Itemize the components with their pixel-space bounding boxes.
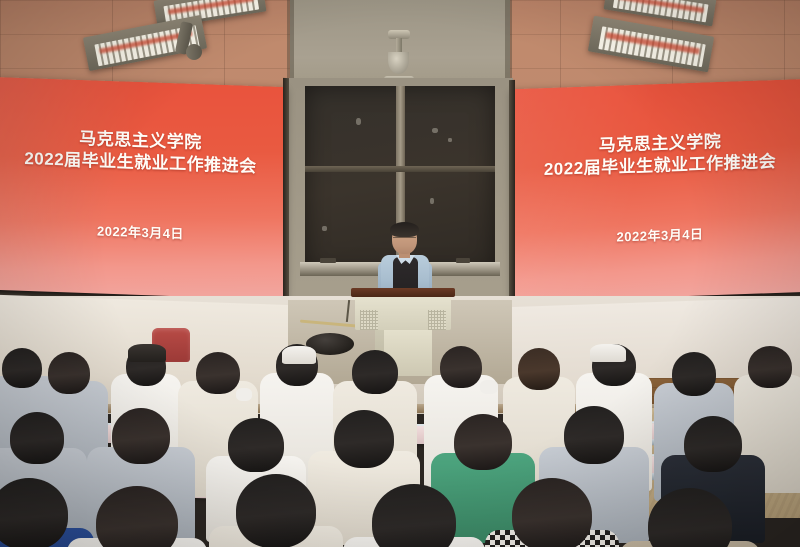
audience-person-head <box>684 416 742 472</box>
eraser[interactable] <box>456 258 470 263</box>
chalk-mark <box>432 128 438 133</box>
screen-frame-left <box>283 78 289 306</box>
white-cap-icon <box>282 346 316 364</box>
audience-person-head <box>672 352 716 396</box>
chalk-mark <box>322 226 327 231</box>
dark-cap-icon <box>128 344 166 362</box>
audience-person-head <box>112 408 170 464</box>
lecture-hall-photo: 马克思主义学院 2022届毕业生就业工作推进会 2022年3月4日 马克思主义学… <box>0 0 800 547</box>
audience-person-head <box>454 414 512 470</box>
audience-person-head <box>564 406 624 464</box>
light-mount-joint <box>186 44 202 60</box>
projection-screen-left: 马克思主义学院 2022届毕业生就业工作推进会 2022年3月4日 <box>0 77 285 306</box>
speaker-grille-right-icon <box>428 310 446 330</box>
audience-person-head <box>236 474 316 547</box>
audience-person-head <box>334 410 394 468</box>
face-mask-icon <box>480 380 498 394</box>
audience-person-head <box>512 478 592 547</box>
glasses-icon <box>393 237 416 243</box>
lectern-top <box>351 288 455 297</box>
chalk-mark <box>430 198 434 204</box>
chalk-mark <box>356 118 361 125</box>
audience-person-head <box>196 352 240 394</box>
eraser[interactable] <box>320 258 336 263</box>
audience-person-head <box>518 348 560 390</box>
chalk-mark <box>448 138 452 142</box>
face-mask-icon <box>236 388 252 401</box>
speaker-grille-left-icon <box>360 310 378 330</box>
presenter-hair <box>390 222 419 237</box>
screen-surface <box>0 77 285 306</box>
lectern-body <box>355 296 451 330</box>
audience-person-head <box>228 418 284 472</box>
audience-person-head <box>48 352 90 394</box>
screen-frame-right <box>509 80 515 308</box>
projection-screen-right: 马克思主义学院 2022届毕业生就业工作推进会 2022年3月4日 <box>513 79 800 308</box>
screen-surface <box>513 79 800 308</box>
audience-person-head <box>748 346 792 388</box>
white-cap-icon <box>590 344 626 362</box>
audience-person-head <box>440 346 482 388</box>
audience-person-head <box>10 412 64 464</box>
audience-person-head <box>352 350 398 394</box>
chalkboard-divider-horizontal <box>305 166 495 172</box>
